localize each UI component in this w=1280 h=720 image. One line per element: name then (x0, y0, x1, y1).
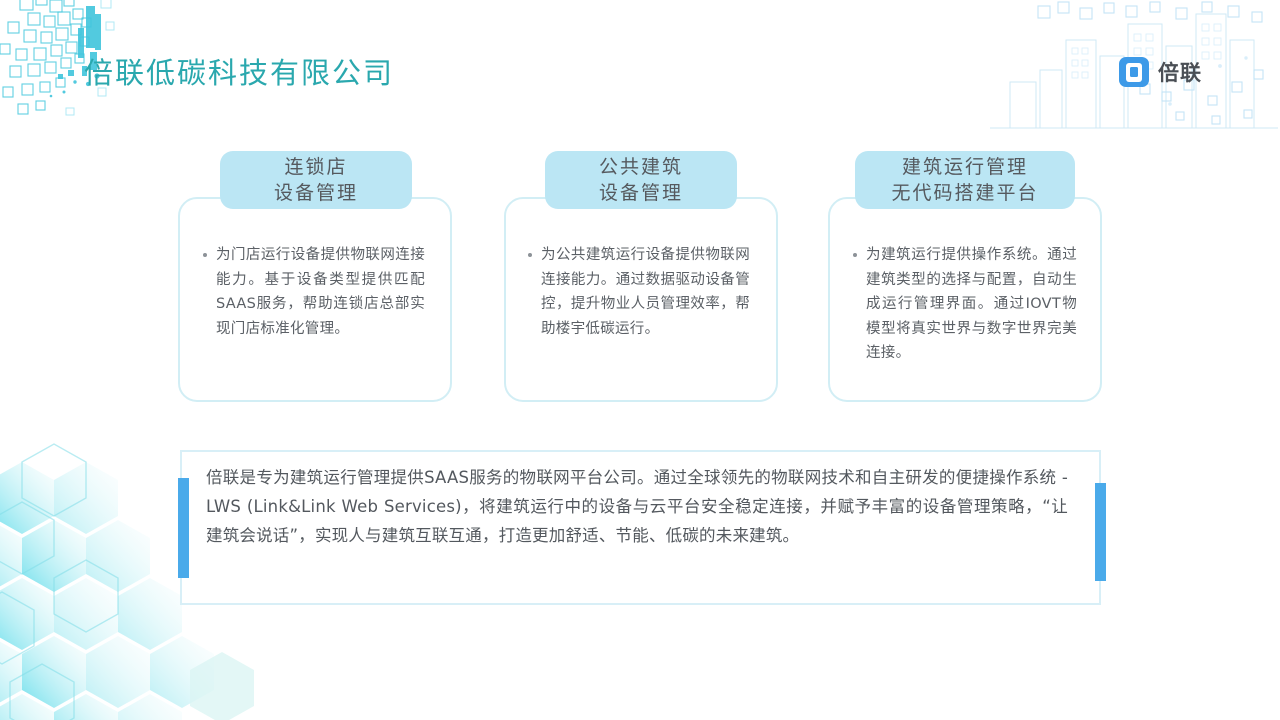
card-body-text: 为公共建筑运行设备提供物联网连接能力。通过数据驱动设备管控，提升物业人员管理效率… (541, 243, 750, 341)
card-title-line2: 无代码搭建平台 (891, 180, 1038, 206)
card-title-line1: 连锁店 (284, 154, 347, 180)
feature-cards: 连锁店 设备管理 公共建筑 设备管理 建筑运行管理 无代码搭建平台 为门店运行设… (0, 0, 1280, 720)
bullet-dot-icon (853, 253, 857, 257)
card-body-public-building: 为公共建筑运行设备提供物联网连接能力。通过数据驱动设备管控，提升物业人员管理效率… (528, 243, 750, 341)
card-title-line2: 设备管理 (599, 180, 683, 206)
card-title-line1: 公共建筑 (599, 154, 683, 180)
bullet-dot-icon (528, 253, 532, 257)
card-body-text: 为门店运行设备提供物联网连接能力。基于设备类型提供匹配SAAS服务，帮助连锁店总… (216, 243, 425, 341)
card-body-chain-store: 为门店运行设备提供物联网连接能力。基于设备类型提供匹配SAAS服务，帮助连锁店总… (203, 243, 425, 341)
slide-root: 倍联低碳科技有限公司 倍联 连锁店 设备管理 公共建筑 设备管理 建筑运行管理 … (0, 0, 1280, 720)
card-title-line1: 建筑运行管理 (902, 154, 1028, 180)
card-header-chip-nocode-platform: 建筑运行管理 无代码搭建平台 (855, 151, 1075, 209)
card-body-nocode-platform: 为建筑运行提供操作系统。通过建筑类型的选择与配置，自动生成运行管理界面。通过IO… (853, 243, 1077, 366)
bullet-dot-icon (203, 253, 207, 257)
card-body-text: 为建筑运行提供操作系统。通过建筑类型的选择与配置，自动生成运行管理界面。通过IO… (866, 243, 1077, 366)
card-title-line2: 设备管理 (274, 180, 358, 206)
summary-panel-text: 倍联是专为建筑运行管理提供SAAS服务的物联网平台公司。通过全球领先的物联网技术… (206, 463, 1068, 550)
card-header-chip-public-building: 公共建筑 设备管理 (545, 151, 737, 209)
card-header-chip-chain-store: 连锁店 设备管理 (220, 151, 412, 209)
accent-bar-right (1095, 483, 1106, 581)
accent-bar-left (178, 478, 189, 578)
